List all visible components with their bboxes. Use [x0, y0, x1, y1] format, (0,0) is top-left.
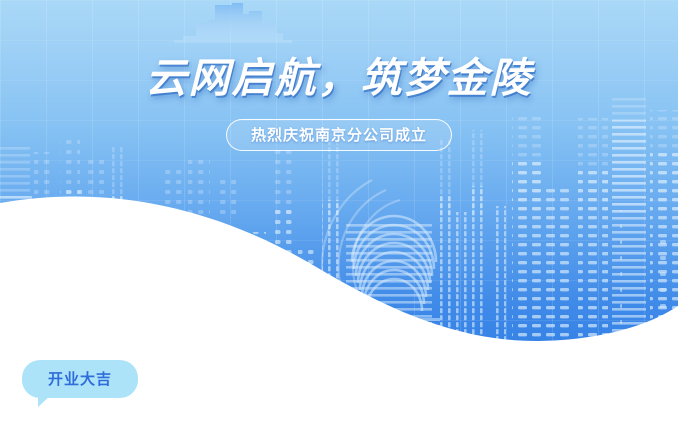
page-title: 云网启航，筑梦金陵	[0, 58, 678, 99]
speech-bubble-tail-icon	[38, 394, 52, 407]
promotional-banner: 云网启航，筑梦金陵 热烈庆祝南京分公司成立 开业大吉	[0, 0, 678, 422]
status-badge: 开业大吉	[22, 360, 138, 398]
subtitle-container: 热烈庆祝南京分公司成立	[0, 119, 678, 151]
subtitle-pill: 热烈庆祝南京分公司成立	[226, 119, 452, 151]
status-badge-label: 开业大吉	[22, 360, 138, 398]
title-block: 云网启航，筑梦金陵 热烈庆祝南京分公司成立	[0, 58, 678, 151]
